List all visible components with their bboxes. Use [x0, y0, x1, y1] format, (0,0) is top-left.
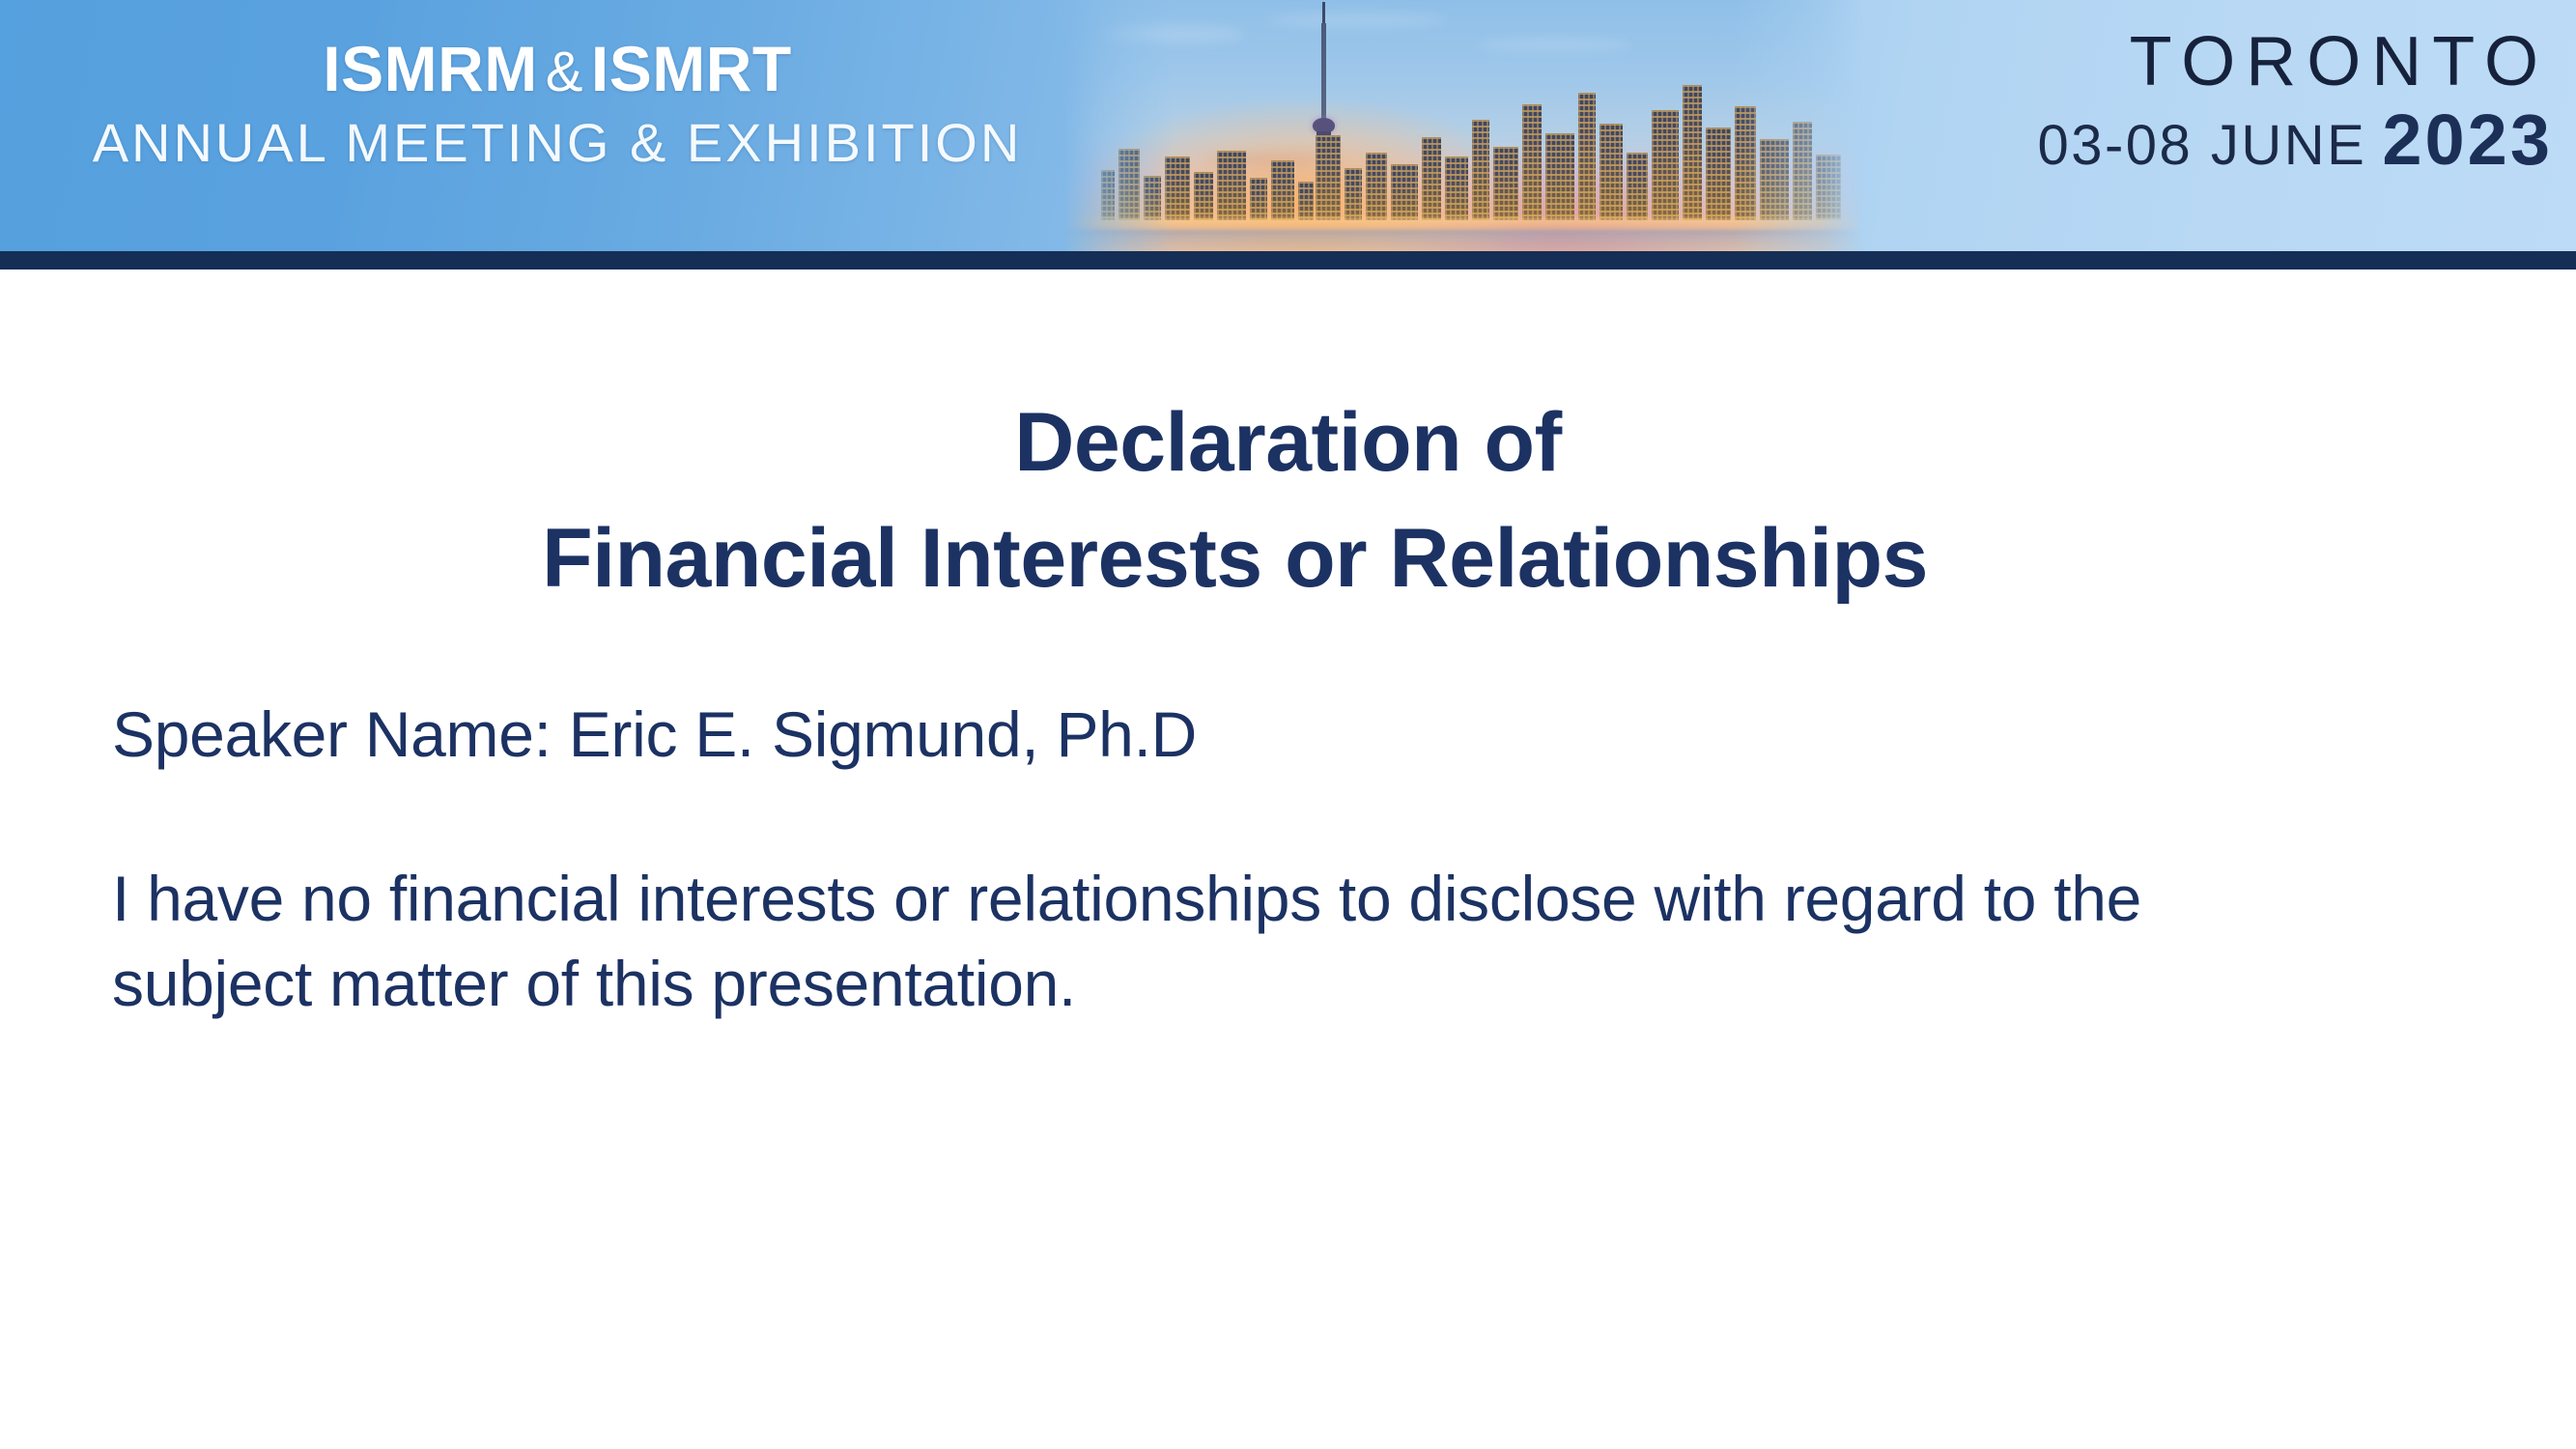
building-shape	[1422, 137, 1441, 220]
building-shape	[1706, 128, 1731, 220]
building-shape	[1391, 164, 1418, 220]
building-shape	[1101, 170, 1115, 220]
ismrm-wordmark: ISMRM	[323, 33, 537, 104]
building-shape	[1445, 156, 1468, 220]
building-shape	[1194, 172, 1213, 220]
title-line-1: Declaration of	[0, 384, 2576, 500]
building-shape	[1545, 133, 1574, 220]
conference-banner: ISMRM&ISMRT ANNUAL MEETING & EXHIBITION …	[0, 0, 2576, 251]
building-shape	[1472, 120, 1489, 220]
building-shape	[1735, 106, 1756, 220]
building-shape	[1250, 178, 1267, 220]
building-shape	[1816, 155, 1841, 220]
building-shape	[1627, 153, 1648, 220]
ampersand-glyph: &	[538, 41, 591, 103]
slide-title: Declaration of Financial Interests or Re…	[0, 384, 2576, 616]
cloud-shape	[1478, 39, 1632, 50]
building-shape	[1118, 149, 1140, 220]
building-shape	[1298, 182, 1314, 220]
speaker-name-line: Speaker Name: Eric E. Sigmund, Ph.D	[112, 694, 2353, 775]
building-shape	[1760, 139, 1789, 220]
building-shape	[1793, 122, 1812, 220]
event-subtitle: ANNUAL MEETING & EXHIBITION	[60, 113, 1055, 173]
society-names: ISMRM&ISMRT	[60, 33, 1055, 108]
building-shape	[1316, 135, 1341, 220]
building-shape	[1217, 151, 1246, 220]
ismrt-wordmark: ISMRT	[591, 33, 792, 104]
building-shape	[1345, 168, 1362, 220]
waterfront	[1062, 230, 1864, 251]
building-shape	[1165, 156, 1190, 220]
city-name: TORONTO	[2037, 21, 2553, 102]
building-shape	[1493, 147, 1518, 220]
body-spacer	[112, 775, 2353, 856]
building-shape	[1522, 104, 1542, 220]
building-shape	[1652, 110, 1679, 220]
building-shape	[1271, 160, 1294, 220]
title-line-2: Financial Interests or Relationships	[0, 500, 2576, 616]
event-year: 2023	[2382, 106, 2553, 174]
event-date-range: 03-08 JUNE	[2037, 114, 2366, 178]
banner-underline-rule	[0, 251, 2576, 270]
cloud-shape	[1265, 14, 1449, 27]
event-dates-row: 03-08 JUNE 2023	[2037, 106, 2553, 178]
building-shape	[1599, 124, 1623, 220]
presentation-slide: ISMRM&ISMRT ANNUAL MEETING & EXHIBITION …	[0, 0, 2576, 1449]
cloud-shape	[1101, 25, 1246, 43]
toronto-skyline-image	[1062, 0, 1864, 251]
building-shape	[1683, 85, 1702, 220]
building-shape	[1144, 176, 1161, 220]
disclosure-statement: I have no financial interests or relatio…	[112, 856, 2324, 1026]
event-location-block: TORONTO 03-08 JUNE 2023	[2037, 21, 2553, 178]
building-shape	[1366, 153, 1387, 220]
ismrm-logo-lockup: ISMRM&ISMRT ANNUAL MEETING & EXHIBITION	[60, 33, 1055, 173]
slide-body: Speaker Name: Eric E. Sigmund, Ph.D I ha…	[112, 694, 2353, 1026]
building-shape	[1578, 93, 1596, 220]
